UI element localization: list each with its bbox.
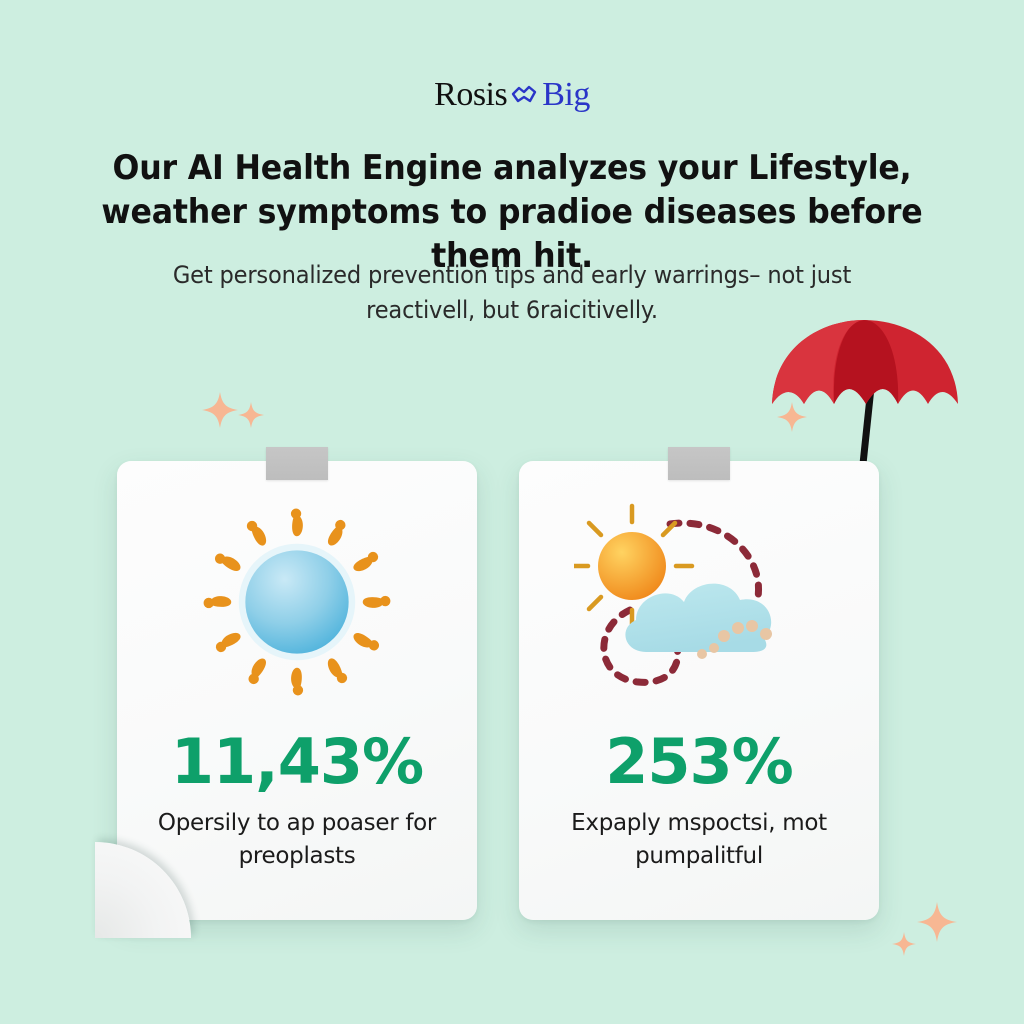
stat-value: 253% [519,731,879,793]
sparkle-icon [775,400,809,434]
sun-behind-cloud-icon [519,487,879,717]
stat-card-left[interactable]: 11,43% Opersily to ap poaser for preopla… [117,461,477,920]
stat-caption: Expaply mspoctsi, mot pumpalitful [537,807,861,872]
sparkle-icon [236,400,266,430]
brand-logo: Rosis Big [0,72,1024,118]
sparkle-icon [890,930,918,958]
brand-name-dark: Rosis [434,76,507,114]
stat-card-right[interactable]: 253% Expaply mspoctsi, mot pumpalitful [519,461,879,920]
brand-name-accent: Big [542,76,590,114]
sun-icon [117,487,477,717]
tape-strip [266,447,328,480]
tape-strip [668,447,730,480]
sparkle-icon [200,390,240,430]
stat-caption: Opersily to ap poaser for preoplasts [135,807,459,872]
sparkle-icon [915,900,959,944]
stat-value: 11,43% [117,731,477,793]
heart-outline-icon [509,80,539,110]
